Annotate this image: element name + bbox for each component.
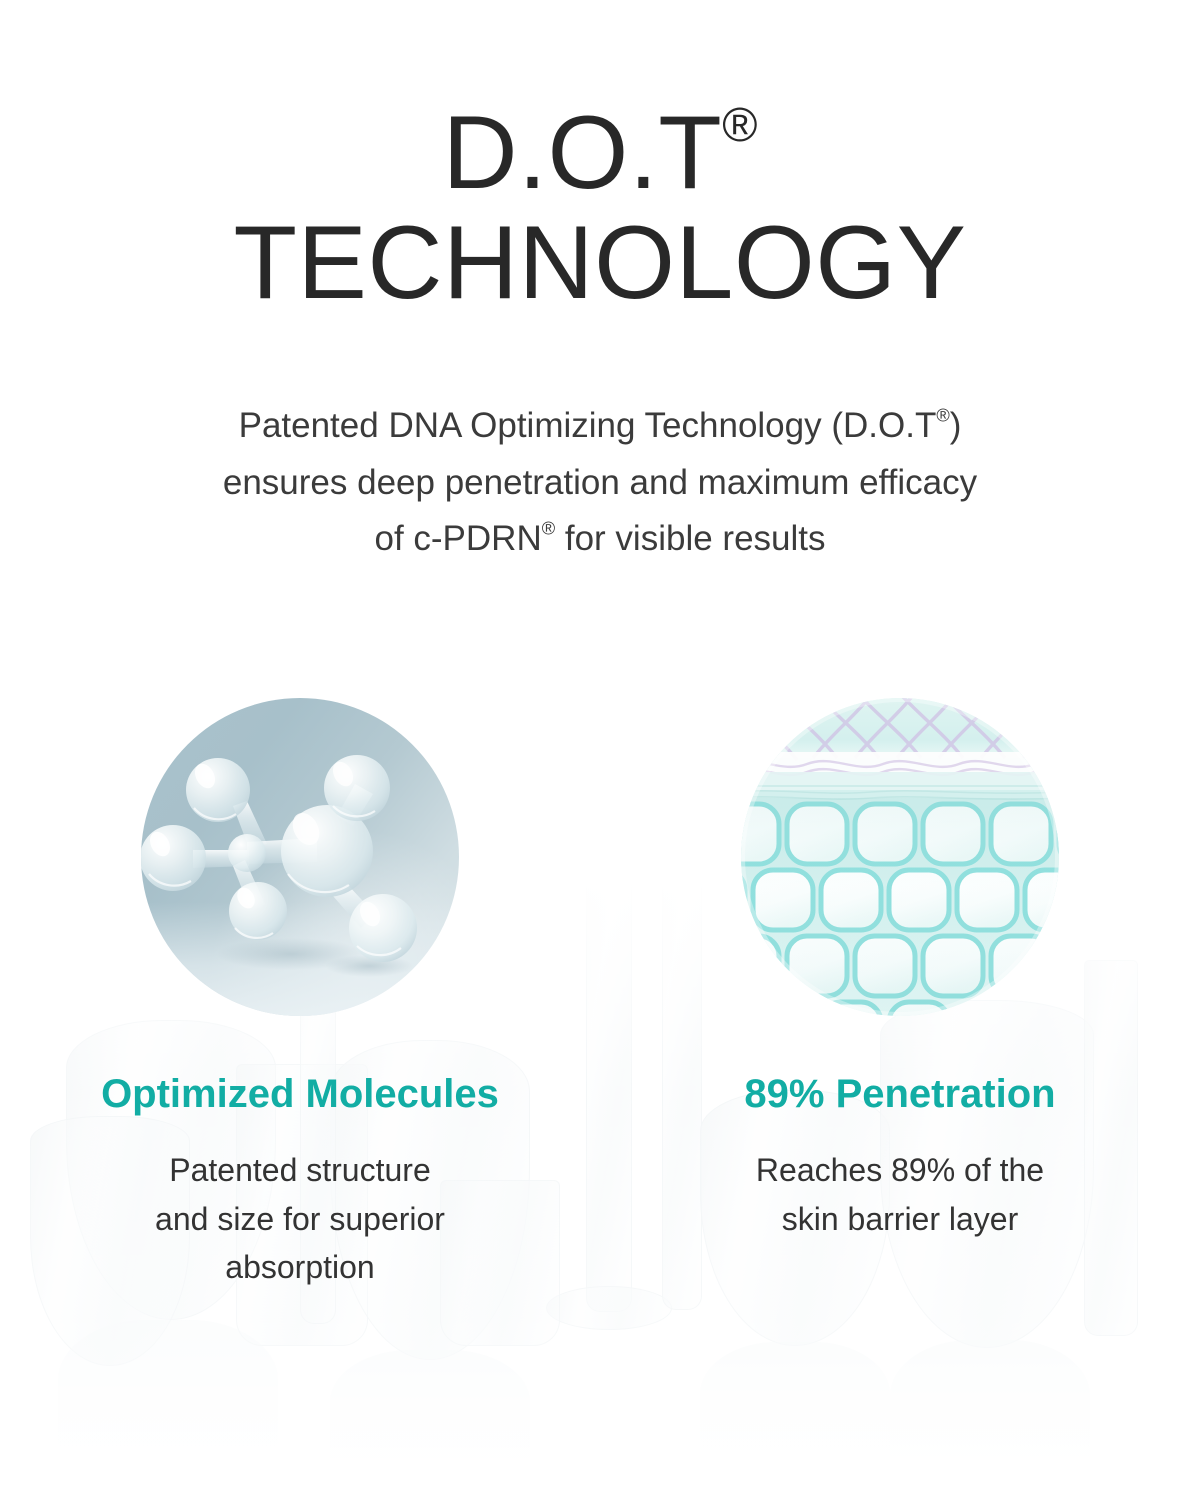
dot-technology-infographic: D.O.T® TECHNOLOGY Patented DNA Optimizin… xyxy=(0,0,1200,1500)
feature-description-line: Reaches 89% of the xyxy=(756,1146,1044,1195)
feature-description: Patented structure and size for superior… xyxy=(155,1146,445,1292)
feature-description: Reaches 89% of the skin barrier layer xyxy=(756,1146,1044,1243)
feature-title: Optimized Molecules xyxy=(101,1072,499,1116)
feature-description-line: skin barrier layer xyxy=(756,1195,1044,1244)
subtitle-line-1-close: ) xyxy=(950,406,962,445)
skin-barrier-illustration xyxy=(741,698,1059,1016)
subtitle-line-1-text: Patented DNA Optimizing Technology (D.O.… xyxy=(239,406,937,445)
title-text-dot: D.O.T xyxy=(442,95,722,211)
title-line-secondary: TECHNOLOGY xyxy=(0,208,1200,318)
subtitle-line-3-tail: for visible results xyxy=(555,519,825,558)
subtitle-line-3: of c-PDRN® for visible results xyxy=(0,511,1200,568)
feature-title: 89% Penetration xyxy=(744,1072,1055,1116)
registered-mark-icon: ® xyxy=(936,406,949,426)
title-line-primary: D.O.T® xyxy=(0,98,1200,208)
subtitle-line-1: Patented DNA Optimizing Technology (D.O.… xyxy=(0,398,1200,455)
skin-barrier-graphic xyxy=(741,698,1059,1016)
registered-mark-icon: ® xyxy=(542,519,555,539)
subtitle-line-3-text: of c-PDRN xyxy=(374,519,541,558)
feature-description-line: Patented structure xyxy=(155,1146,445,1195)
molecule-illustration xyxy=(141,698,459,1016)
feature-penetration: 89% Penetration Reaches 89% of the skin … xyxy=(600,698,1200,1292)
feature-description-line: absorption xyxy=(155,1243,445,1292)
feature-optimized-molecules: Optimized Molecules Patented structure a… xyxy=(0,698,600,1292)
molecule-graphic xyxy=(141,698,459,1016)
registered-mark-icon: ® xyxy=(722,99,757,152)
page-title: D.O.T® TECHNOLOGY xyxy=(0,98,1200,318)
subtitle-line-2: ensures deep penetration and maximum eff… xyxy=(0,455,1200,512)
subtitle-paragraph: Patented DNA Optimizing Technology (D.O.… xyxy=(0,398,1200,568)
feature-columns: Optimized Molecules Patented structure a… xyxy=(0,698,1200,1292)
feature-description-line: and size for superior xyxy=(155,1195,445,1244)
